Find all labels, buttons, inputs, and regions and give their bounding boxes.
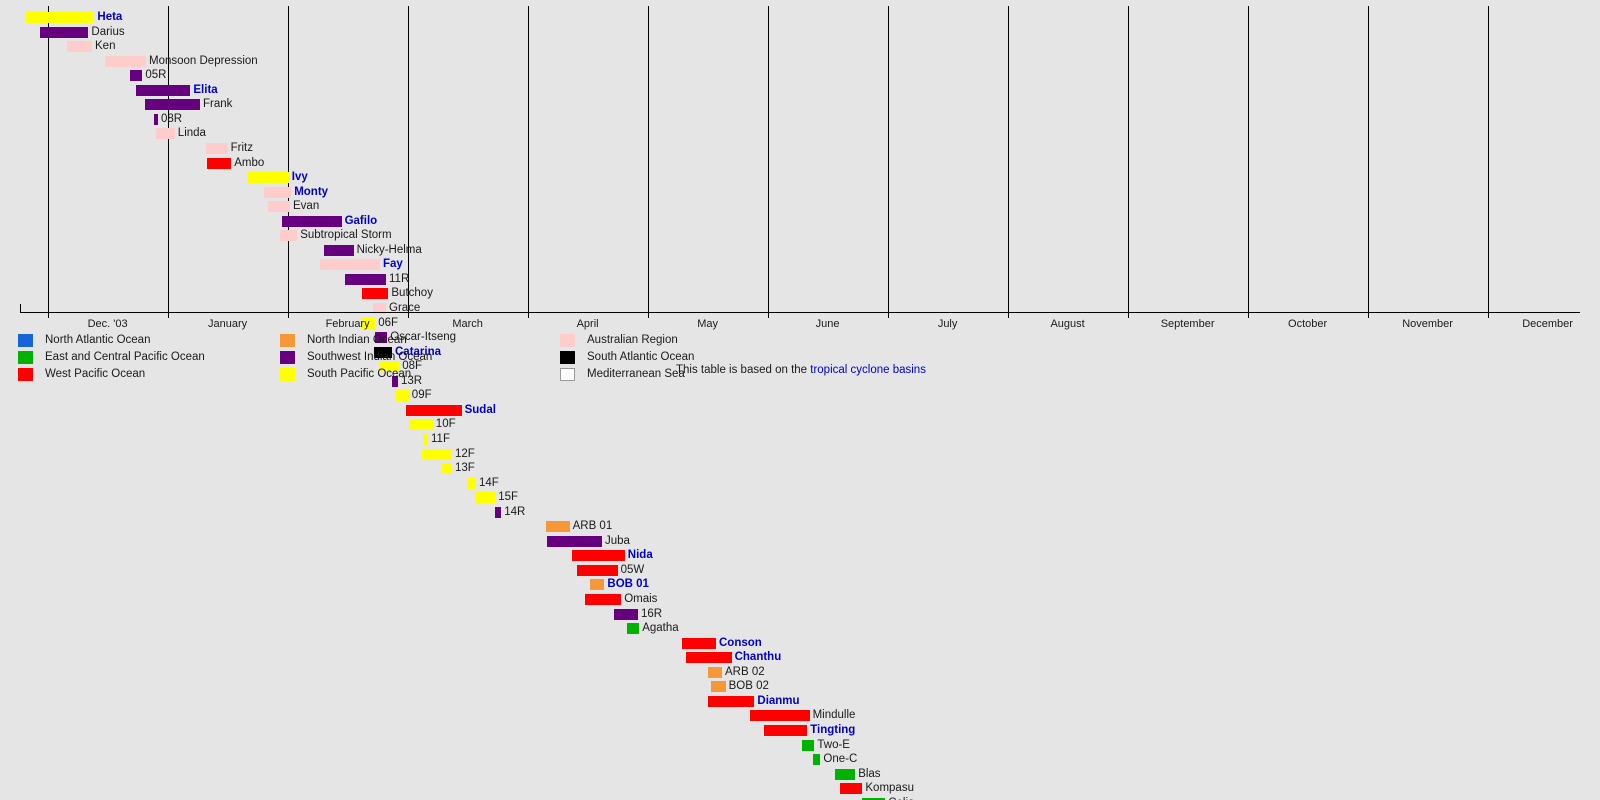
legend-swatch-west-pacific — [18, 368, 33, 381]
month-label-april: April — [577, 318, 599, 330]
timeline-row: Nicky-Helma — [0, 243, 1600, 258]
storm-label: 06F — [378, 316, 398, 331]
legend-label: North Atlantic Ocean — [45, 332, 150, 349]
storm-label: Fritz — [231, 141, 253, 156]
storm-bar[interactable] — [764, 725, 807, 736]
storm-label: 14F — [479, 476, 499, 491]
month-label-may: May — [697, 318, 718, 330]
timeline-row: Two-E — [0, 738, 1600, 753]
storm-label: 05W — [621, 563, 645, 578]
axis-tick — [288, 312, 289, 318]
timeline-row: Sudal — [0, 403, 1600, 418]
month-label-dec-03: Dec. '03 — [88, 318, 128, 330]
axis-tick — [408, 312, 409, 318]
storm-label: Fay — [383, 257, 403, 272]
axis-tick — [528, 312, 529, 318]
legend-swatch-mediterranean — [560, 368, 575, 381]
axis-tick — [1368, 312, 1369, 318]
legend-swatch-east-central-pacific — [18, 351, 33, 364]
timeline-row: Blas — [0, 767, 1600, 782]
storm-bar[interactable] — [547, 536, 602, 547]
timeline-row: Omais — [0, 592, 1600, 607]
timeline-row: 05W — [0, 563, 1600, 578]
storm-bar[interactable] — [711, 681, 725, 692]
storm-label: Kompasu — [865, 781, 914, 796]
x-axis-start-cap — [20, 304, 21, 313]
storm-label: Monty — [294, 185, 328, 200]
timeline-row: 14R — [0, 505, 1600, 520]
legend-swatch-southwest-indian — [280, 351, 295, 364]
x-axis-line — [20, 312, 1580, 313]
axis-tick — [768, 312, 769, 318]
timeline-row: 16R — [0, 607, 1600, 622]
month-label-september: September — [1161, 318, 1215, 330]
storm-bar[interactable] — [268, 201, 290, 212]
timeline-row: Juba — [0, 534, 1600, 549]
legend-label: East and Central Pacific Ocean — [45, 349, 205, 366]
storm-bar[interactable] — [207, 158, 231, 169]
timeline-row: Monsoon Depression — [0, 54, 1600, 69]
legend-swatch-south-pacific — [280, 368, 295, 381]
storm-bar[interactable] — [324, 245, 354, 256]
timeline-row: Monty — [0, 185, 1600, 200]
timeline-row: Subtropical Storm — [0, 228, 1600, 243]
legend-swatch-australian — [560, 334, 575, 347]
storm-bar[interactable] — [423, 434, 428, 445]
axis-tick — [648, 312, 649, 318]
timeline-row: 13F — [0, 461, 1600, 476]
storm-label: 10F — [436, 417, 456, 432]
storm-label: 12F — [455, 447, 475, 462]
storm-bar[interactable] — [835, 769, 855, 780]
storm-bar[interactable] — [280, 230, 297, 241]
footnote: This table is based on the tropical cycl… — [676, 364, 926, 376]
timeline-row: Mindulle — [0, 708, 1600, 723]
storm-label: Juba — [605, 534, 630, 549]
month-label-july: July — [938, 318, 958, 330]
storm-bar[interactable] — [406, 405, 461, 416]
timeline-row: Evan — [0, 199, 1600, 214]
storm-bar[interactable] — [476, 492, 495, 503]
cyclone-timeline-chart: HetaDariusKenMonsoon Depression05RElitaF… — [0, 0, 1600, 400]
storm-label: Mindulle — [813, 708, 856, 723]
timeline-row: Fritz — [0, 141, 1600, 156]
storm-label: Ivy — [292, 170, 308, 185]
storm-label: Subtropical Storm — [300, 228, 391, 243]
month-label-november: November — [1402, 318, 1453, 330]
storm-bar[interactable] — [750, 710, 810, 721]
storm-label: Omais — [624, 592, 657, 607]
month-label-february: February — [326, 318, 370, 330]
storm-bar[interactable] — [708, 667, 722, 678]
storm-bar[interactable] — [468, 478, 476, 489]
storm-bar[interactable] — [206, 143, 228, 154]
storm-label: 11F — [431, 432, 450, 447]
storm-label: ARB 01 — [573, 519, 613, 534]
storm-label: Heta — [97, 10, 122, 25]
month-label-august: August — [1050, 318, 1084, 330]
month-label-june: June — [816, 318, 840, 330]
storm-label: 14R — [504, 505, 525, 520]
storm-label: One-C — [823, 752, 857, 767]
timeline-row: ARB 02 — [0, 665, 1600, 680]
storm-label: Agatha — [642, 621, 678, 636]
timeline-row: Butchoy — [0, 286, 1600, 301]
axis-tick — [1488, 312, 1489, 318]
axis-tick — [1008, 312, 1009, 318]
timeline-row: BOB 02 — [0, 679, 1600, 694]
storm-label: Frank — [203, 97, 232, 112]
storm-label: Elita — [193, 83, 217, 98]
storm-bar[interactable] — [708, 696, 755, 707]
timeline-row: Grace — [0, 301, 1600, 316]
timeline-row: 08R — [0, 112, 1600, 127]
timeline-row: One-C — [0, 752, 1600, 767]
timeline-row: Gafilo — [0, 214, 1600, 229]
axis-tick — [1128, 312, 1129, 318]
storm-label: 11R — [389, 272, 409, 287]
storm-label: Sudal — [465, 403, 496, 418]
storm-bar[interactable] — [248, 172, 289, 183]
storm-label: Tingting — [810, 723, 855, 738]
legend-swatch-north-indian — [280, 334, 295, 347]
storm-label: 16R — [641, 607, 662, 622]
timeline-row: Agatha — [0, 621, 1600, 636]
timeline-row: Ambo — [0, 156, 1600, 171]
timeline-row: Conson — [0, 636, 1600, 651]
legend-swatch-south-atlantic — [560, 351, 575, 364]
storm-bar[interactable] — [682, 638, 716, 649]
storm-bar[interactable] — [67, 41, 92, 52]
storm-label: Evan — [293, 199, 319, 214]
storm-label: Two-E — [817, 738, 850, 753]
storm-bar[interactable] — [26, 12, 94, 23]
timeline-row: Celia — [0, 796, 1600, 800]
storm-bar[interactable] — [585, 594, 621, 605]
timeline-row: Heta — [0, 10, 1600, 25]
timeline-row: Linda — [0, 126, 1600, 141]
storm-label: Gafilo — [345, 214, 378, 229]
axis-tick — [1248, 312, 1249, 318]
legend-label: South Pacific Ocean — [307, 366, 411, 383]
storm-label: Grace — [389, 301, 420, 316]
axis-tick — [48, 312, 49, 318]
storm-label: Darius — [91, 25, 124, 40]
legend-swatch-north-atlantic — [18, 334, 33, 347]
storm-label: Butchoy — [391, 286, 433, 301]
storm-label: Nicky-Helma — [357, 243, 422, 258]
storm-bar[interactable] — [577, 565, 618, 576]
timeline-row: Darius — [0, 25, 1600, 40]
timeline-row: 15F — [0, 490, 1600, 505]
timeline-row: 14F — [0, 476, 1600, 491]
footnote-prefix: This table is based on the — [676, 364, 810, 376]
storm-bar[interactable] — [264, 187, 292, 198]
storm-bar[interactable] — [614, 609, 638, 620]
storm-label: 08R — [161, 112, 182, 127]
storm-bar[interactable] — [495, 507, 501, 518]
storm-label: Linda — [178, 126, 206, 141]
storm-bar[interactable] — [105, 56, 146, 67]
timeline-row: Kompasu — [0, 781, 1600, 796]
storm-bar[interactable] — [145, 99, 200, 110]
timeline-row: Dianmu — [0, 694, 1600, 709]
storm-label: Nida — [628, 548, 653, 563]
storm-bar[interactable] — [840, 783, 863, 794]
tropical-cyclone-basins-link[interactable]: tropical cyclone basins — [810, 364, 926, 376]
timeline-row: Elita — [0, 83, 1600, 98]
storm-bar[interactable] — [362, 288, 388, 299]
storm-bar[interactable] — [546, 521, 570, 532]
storm-bar[interactable] — [154, 114, 158, 125]
storm-label: Blas — [858, 767, 880, 782]
storm-label: Monsoon Depression — [149, 54, 258, 69]
storm-bar[interactable] — [813, 754, 820, 765]
month-label-october: October — [1288, 318, 1327, 330]
timeline-row: BOB 01 — [0, 577, 1600, 592]
month-label-december: December — [1522, 318, 1573, 330]
timeline-row: Chanthu — [0, 650, 1600, 665]
timeline-row: Tingting — [0, 723, 1600, 738]
storm-label: 15F — [498, 490, 518, 505]
timeline-row: Frank — [0, 97, 1600, 112]
storm-bar[interactable] — [320, 259, 380, 270]
timeline-row: Fay — [0, 257, 1600, 272]
storm-label: Ambo — [234, 156, 264, 171]
month-label-march: March — [452, 318, 483, 330]
timeline-row: 10F — [0, 417, 1600, 432]
axis-tick — [888, 312, 889, 318]
storm-bar[interactable] — [130, 70, 142, 81]
storm-label: 05R — [145, 68, 166, 83]
timeline-row: 11R — [0, 272, 1600, 287]
storm-bar[interactable] — [862, 798, 885, 800]
storm-label: Ken — [95, 39, 115, 54]
storm-label: 13F — [455, 461, 475, 476]
storm-label: Dianmu — [757, 694, 799, 709]
storm-bar[interactable] — [627, 623, 639, 634]
legend-label: Australian Region — [587, 332, 678, 349]
storm-bar[interactable] — [40, 27, 88, 38]
storm-bar[interactable] — [409, 419, 433, 430]
legend-label: West Pacific Ocean — [45, 366, 145, 383]
timeline-row: 12F — [0, 447, 1600, 462]
storm-label: ARB 02 — [725, 665, 765, 680]
storm-bar[interactable] — [590, 579, 604, 590]
storm-label: Chanthu — [735, 650, 782, 665]
legend-label: Southwest Indian Ocean — [307, 349, 432, 366]
storm-bar[interactable] — [136, 85, 190, 96]
axis-tick — [168, 312, 169, 318]
month-label-january: January — [208, 318, 247, 330]
storm-bar[interactable] — [282, 216, 342, 227]
storm-bar[interactable] — [422, 449, 452, 460]
timeline-row: 05R — [0, 68, 1600, 83]
timeline-plot-area: HetaDariusKenMonsoon Depression05RElitaF… — [0, 0, 1600, 312]
storm-bar[interactable] — [345, 274, 386, 285]
timeline-row: Nida — [0, 548, 1600, 563]
storm-label: Conson — [719, 636, 762, 651]
legend-label: Mediterranean Sea — [587, 366, 685, 383]
storm-bar[interactable] — [442, 463, 452, 474]
timeline-row: 11F — [0, 432, 1600, 447]
timeline-row: Ken — [0, 39, 1600, 54]
storm-bar[interactable] — [802, 740, 814, 751]
storm-bar[interactable] — [686, 652, 732, 663]
storm-label: BOB 01 — [607, 577, 649, 592]
timeline-row: Ivy — [0, 170, 1600, 185]
timeline-row: ARB 01 — [0, 519, 1600, 534]
storm-bar[interactable] — [572, 550, 625, 561]
storm-bar[interactable] — [156, 128, 175, 139]
legend-label: North Indian Ocean — [307, 332, 407, 349]
storm-label: Celia — [888, 796, 914, 800]
storm-label: BOB 02 — [729, 679, 769, 694]
